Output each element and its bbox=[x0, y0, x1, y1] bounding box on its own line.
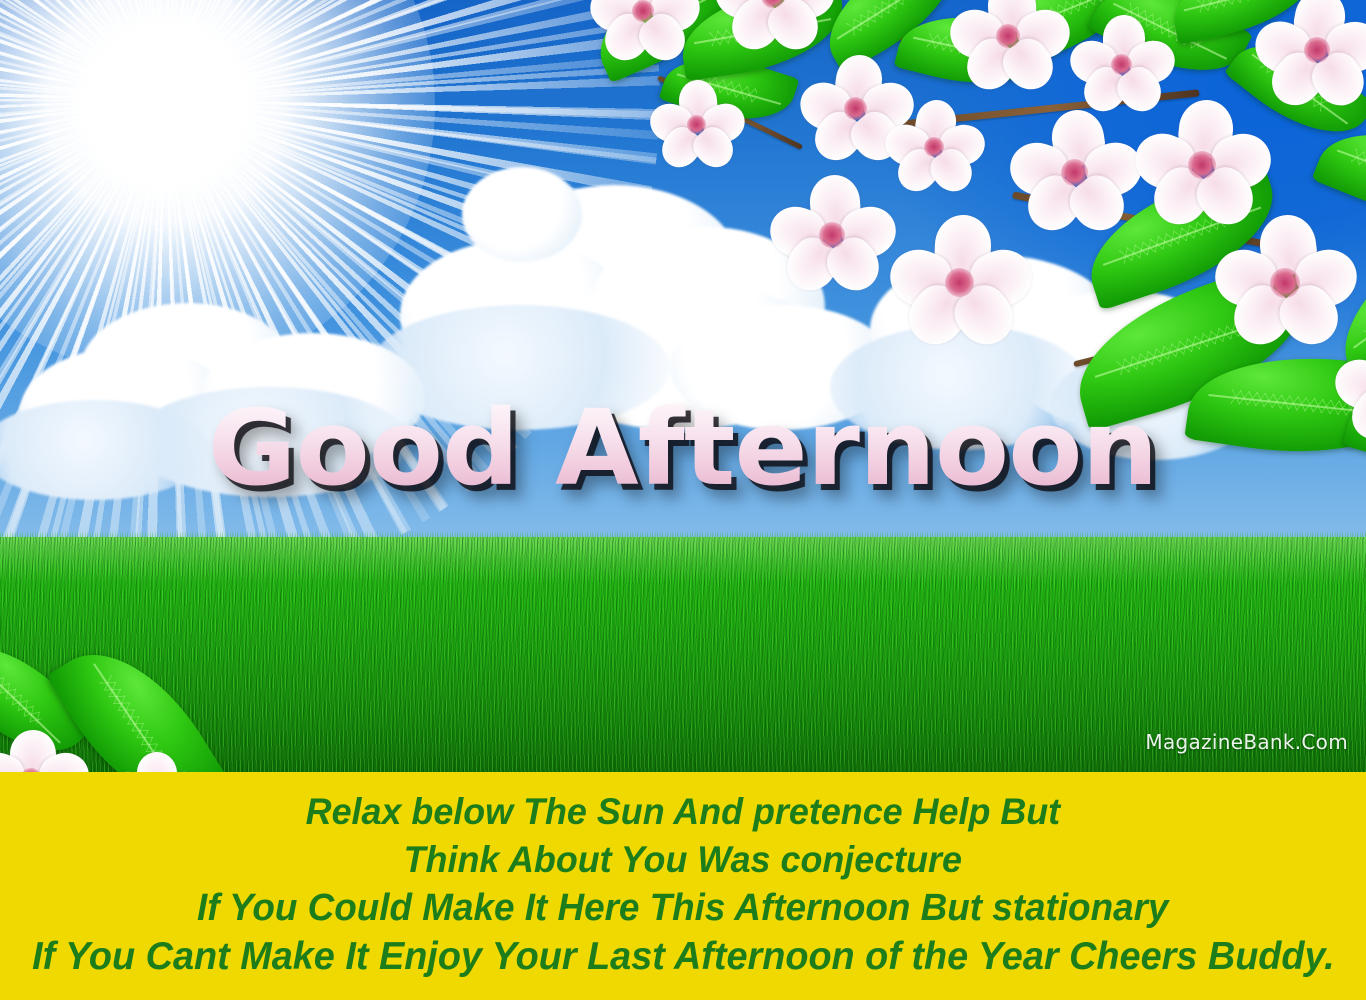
cherry-blossom-icon bbox=[885, 100, 985, 194]
cherry-blossom-icon bbox=[1135, 100, 1270, 226]
cherry-blossom-icon bbox=[1010, 110, 1140, 232]
cherry-blossom-icon bbox=[1215, 215, 1355, 347]
scene-photo: Good Afternoon MagazineBank.Com bbox=[0, 0, 1366, 772]
cherry-blossom-icon bbox=[1255, 0, 1366, 108]
cherry-blossom-icon bbox=[0, 730, 86, 772]
message-line-2: Think About You Was conjecture bbox=[404, 841, 962, 878]
cherry-blossom-icon bbox=[650, 80, 745, 170]
cherry-blossom-icon bbox=[590, 0, 700, 65]
message-line-3: If You Could Make It Here This Afternoon… bbox=[197, 889, 1168, 927]
cherry-blossom-icon bbox=[1070, 15, 1175, 113]
foreground-foliage-bottom-left bbox=[0, 640, 260, 772]
cherry-blossom-branch bbox=[470, 0, 1366, 560]
message-line-1: Relax below The Sun And pretence Help Bu… bbox=[306, 793, 1060, 830]
cherry-blossom-icon bbox=[770, 175, 895, 293]
cloud-cluster-left bbox=[20, 295, 440, 495]
cherry-blossom-icon bbox=[1335, 330, 1366, 442]
cherry-blossom-icon bbox=[950, 0, 1070, 92]
cherry-blossom-icon bbox=[890, 215, 1030, 347]
watermark-credit: MagazineBank.Com bbox=[1145, 730, 1348, 754]
message-line-4: If You Cant Make It Enjoy Your Last Afte… bbox=[32, 937, 1335, 976]
cherry-blossom-icon bbox=[715, 0, 835, 52]
message-banner: Relax below The Sun And pretence Help Bu… bbox=[0, 772, 1366, 1000]
cherry-blossom-icon bbox=[108, 752, 203, 772]
greeting-card: Good Afternoon MagazineBank.Com Relax be… bbox=[0, 0, 1366, 1000]
